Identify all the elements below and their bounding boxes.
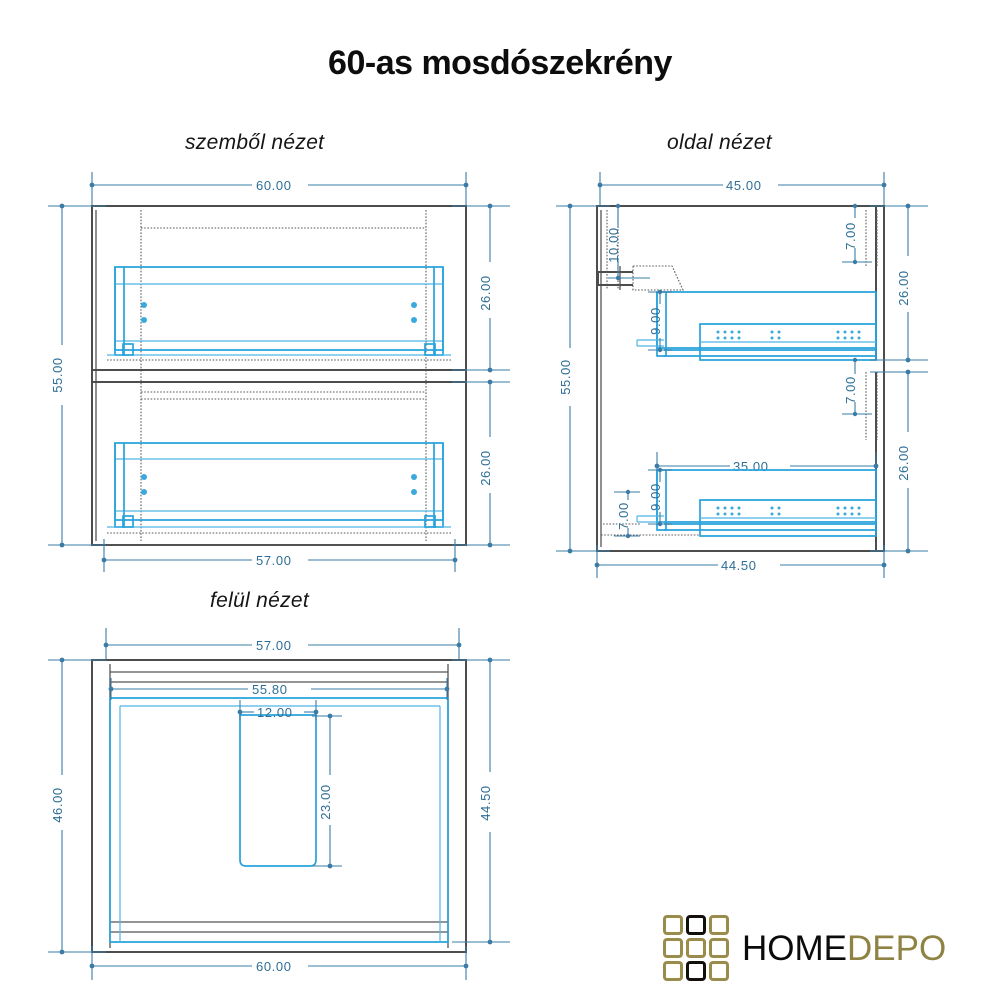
- front-dim-left: 55.00: [48, 204, 106, 548]
- front-upper-drawer: [107, 267, 451, 360]
- side-dim-bottom: 44.50: [595, 545, 887, 578]
- brand-cell-5: [686, 938, 706, 958]
- side-dim-right-upper: 26.00: [870, 204, 928, 363]
- side-upper-slide-dots: [717, 331, 861, 340]
- brand-cell-2: [686, 915, 706, 935]
- top-sink-cutout: [240, 715, 316, 866]
- top-dim-outer-label: 57.00: [256, 638, 292, 653]
- top-dim-bottom-label: 60.00: [256, 959, 292, 974]
- front-lower-drawer: [107, 443, 451, 533]
- side-upper-drawer: [637, 292, 876, 360]
- top-dim-outer: 57.00: [104, 628, 462, 660]
- side-view-group: 45.00: [556, 172, 928, 578]
- brand-cell-1: [663, 915, 683, 935]
- brand-text-home: HOME: [742, 929, 847, 968]
- front-view-group: 60.00: [48, 172, 510, 572]
- top-dim-inner-label: 55.80: [252, 682, 288, 697]
- front-dim-right-upper: 26.00: [452, 204, 510, 373]
- top-dim-inner: 55.80: [109, 678, 450, 700]
- top-view-group: 57.00: [48, 628, 510, 980]
- front-dim-top: 60.00: [90, 172, 469, 206]
- side-dim-10-label: 10.00: [606, 227, 621, 263]
- side-dim-right-upper-label: 26.00: [896, 270, 911, 306]
- side-lower-slide-dots: [717, 507, 861, 516]
- top-dim-right: 44.50: [452, 658, 510, 945]
- side-dim-top: 45.00: [598, 172, 887, 206]
- side-dim-inset-top-left: 10.00: [606, 204, 650, 280]
- top-dim-cutout-width-label: 12.00: [257, 705, 293, 720]
- front-dim-bottom-label: 57.00: [256, 553, 292, 568]
- technical-drawing-canvas: .dim { stroke:#3a7ca5; stroke-width:1.1;…: [0, 0, 1000, 1000]
- brand-text-depo: DEPO: [847, 929, 946, 968]
- top-dim-right-label: 44.50: [478, 785, 493, 821]
- brand-cell-6: [709, 938, 729, 958]
- front-dim-right-lower-label: 26.00: [478, 450, 493, 486]
- brand-cell-9: [709, 961, 729, 981]
- brand-grid-icon: [663, 915, 729, 981]
- brand-text: HOMEDEPO: [742, 931, 946, 966]
- brand-cell-3: [709, 915, 729, 935]
- brand-cell-4: [663, 938, 683, 958]
- top-dim-left: 46.00: [48, 658, 106, 955]
- front-dim-left-label: 55.00: [50, 357, 65, 393]
- side-dim-drawer-depth: 35.00: [655, 452, 879, 480]
- side-dim-right-lower-label: 26.00: [896, 445, 911, 481]
- side-dim-bottom-label: 44.50: [721, 558, 757, 573]
- front-dim-right-upper-label: 26.00: [478, 275, 493, 311]
- side-dim-7-top-label: 7.00: [843, 222, 858, 250]
- side-dim-9-lower-label: 9.00: [648, 483, 663, 511]
- side-dim-left: 55.00: [556, 204, 610, 554]
- side-dim-35-label: 35.00: [733, 459, 769, 474]
- side-dim-inset-bottom-left: 7.00: [614, 490, 640, 538]
- side-dim-left-label: 55.00: [558, 359, 573, 395]
- top-dim-cutout-depth-label: 23.00: [318, 784, 333, 820]
- drawing-page: 60-as mosdószekrény szemből nézet oldal …: [0, 0, 1000, 1000]
- front-dim-top-label: 60.00: [256, 178, 292, 193]
- side-dim-inset-mid-right: 7.00: [842, 358, 872, 416]
- side-lower-drawer: [637, 470, 876, 536]
- top-dim-cutout-width: 12.00: [238, 700, 319, 720]
- brand-cell-7: [663, 961, 683, 981]
- brand-cell-8: [686, 961, 706, 981]
- side-dim-9-upper-label: 9.00: [648, 307, 663, 335]
- side-dim-7-bottom-label: 7.00: [616, 502, 631, 530]
- side-dim-lower-drawer-height: 9.00: [648, 468, 672, 526]
- side-dim-right-lower: 26.00: [870, 370, 928, 554]
- side-dim-inset-top-right: 7.00: [842, 204, 872, 264]
- top-counter-outline: [110, 698, 448, 942]
- side-dim-upper-drawer-height: 9.00: [648, 290, 672, 352]
- top-dim-left-label: 46.00: [50, 787, 65, 823]
- side-dim-top-label: 45.00: [726, 178, 762, 193]
- side-dim-7-mid-label: 7.00: [843, 376, 858, 404]
- front-dim-bottom: 57.00: [102, 539, 458, 572]
- front-dim-right-lower: 26.00: [452, 380, 510, 548]
- brand-logo: HOMEDEPO: [663, 915, 946, 981]
